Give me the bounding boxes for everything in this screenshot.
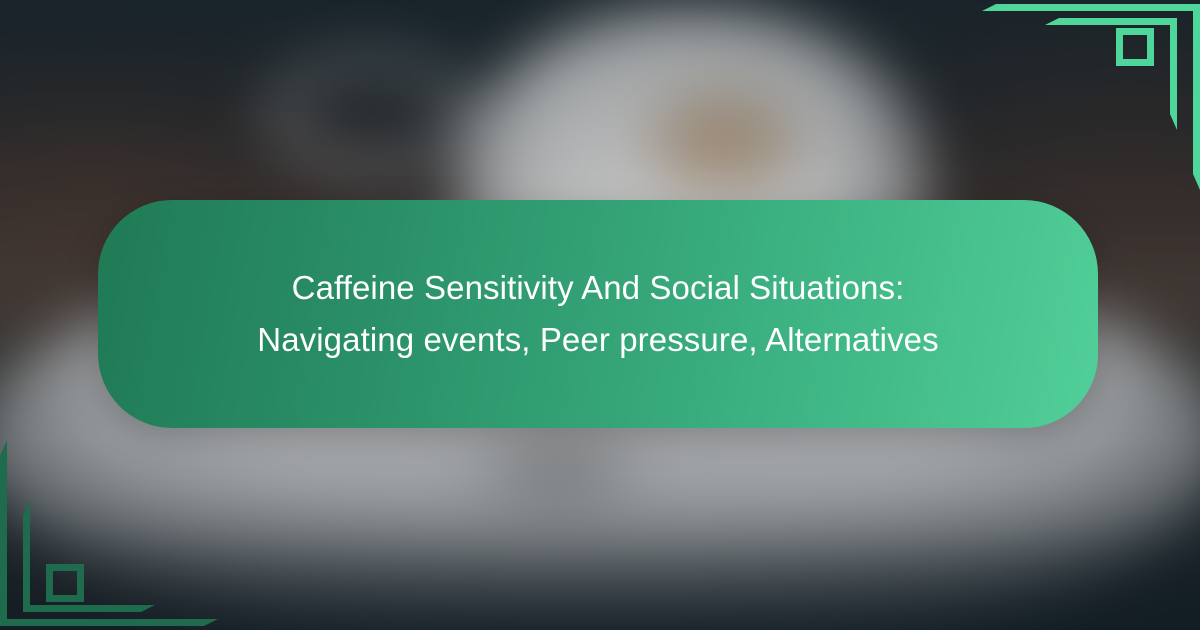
bracket-small-square xyxy=(1116,28,1154,66)
bracket-horizontal-bar-inner xyxy=(1045,18,1175,25)
page-title-line-2: Navigating events, Peer pressure, Altern… xyxy=(257,314,938,366)
bracket-horizontal-bar-outer xyxy=(0,619,218,626)
bracket-vertical-bar-inner xyxy=(1170,18,1177,130)
headline-card: Caffeine Sensitivity And Social Situatio… xyxy=(98,200,1098,428)
bracket-vertical-bar-outer xyxy=(1193,4,1200,190)
share-card-canvas: Caffeine Sensitivity And Social Situatio… xyxy=(0,0,1200,630)
bracket-horizontal-bar-outer xyxy=(982,4,1200,11)
corner-bracket-bottom-left xyxy=(0,410,230,630)
corner-bracket-top-right xyxy=(970,0,1200,220)
page-title-line-1: Caffeine Sensitivity And Social Situatio… xyxy=(257,262,938,314)
bracket-vertical-bar-outer xyxy=(0,440,7,626)
bracket-small-square xyxy=(46,564,84,602)
bracket-vertical-bar-inner xyxy=(23,500,30,612)
page-title: Caffeine Sensitivity And Social Situatio… xyxy=(187,262,1008,366)
bracket-horizontal-bar-inner xyxy=(25,605,155,612)
